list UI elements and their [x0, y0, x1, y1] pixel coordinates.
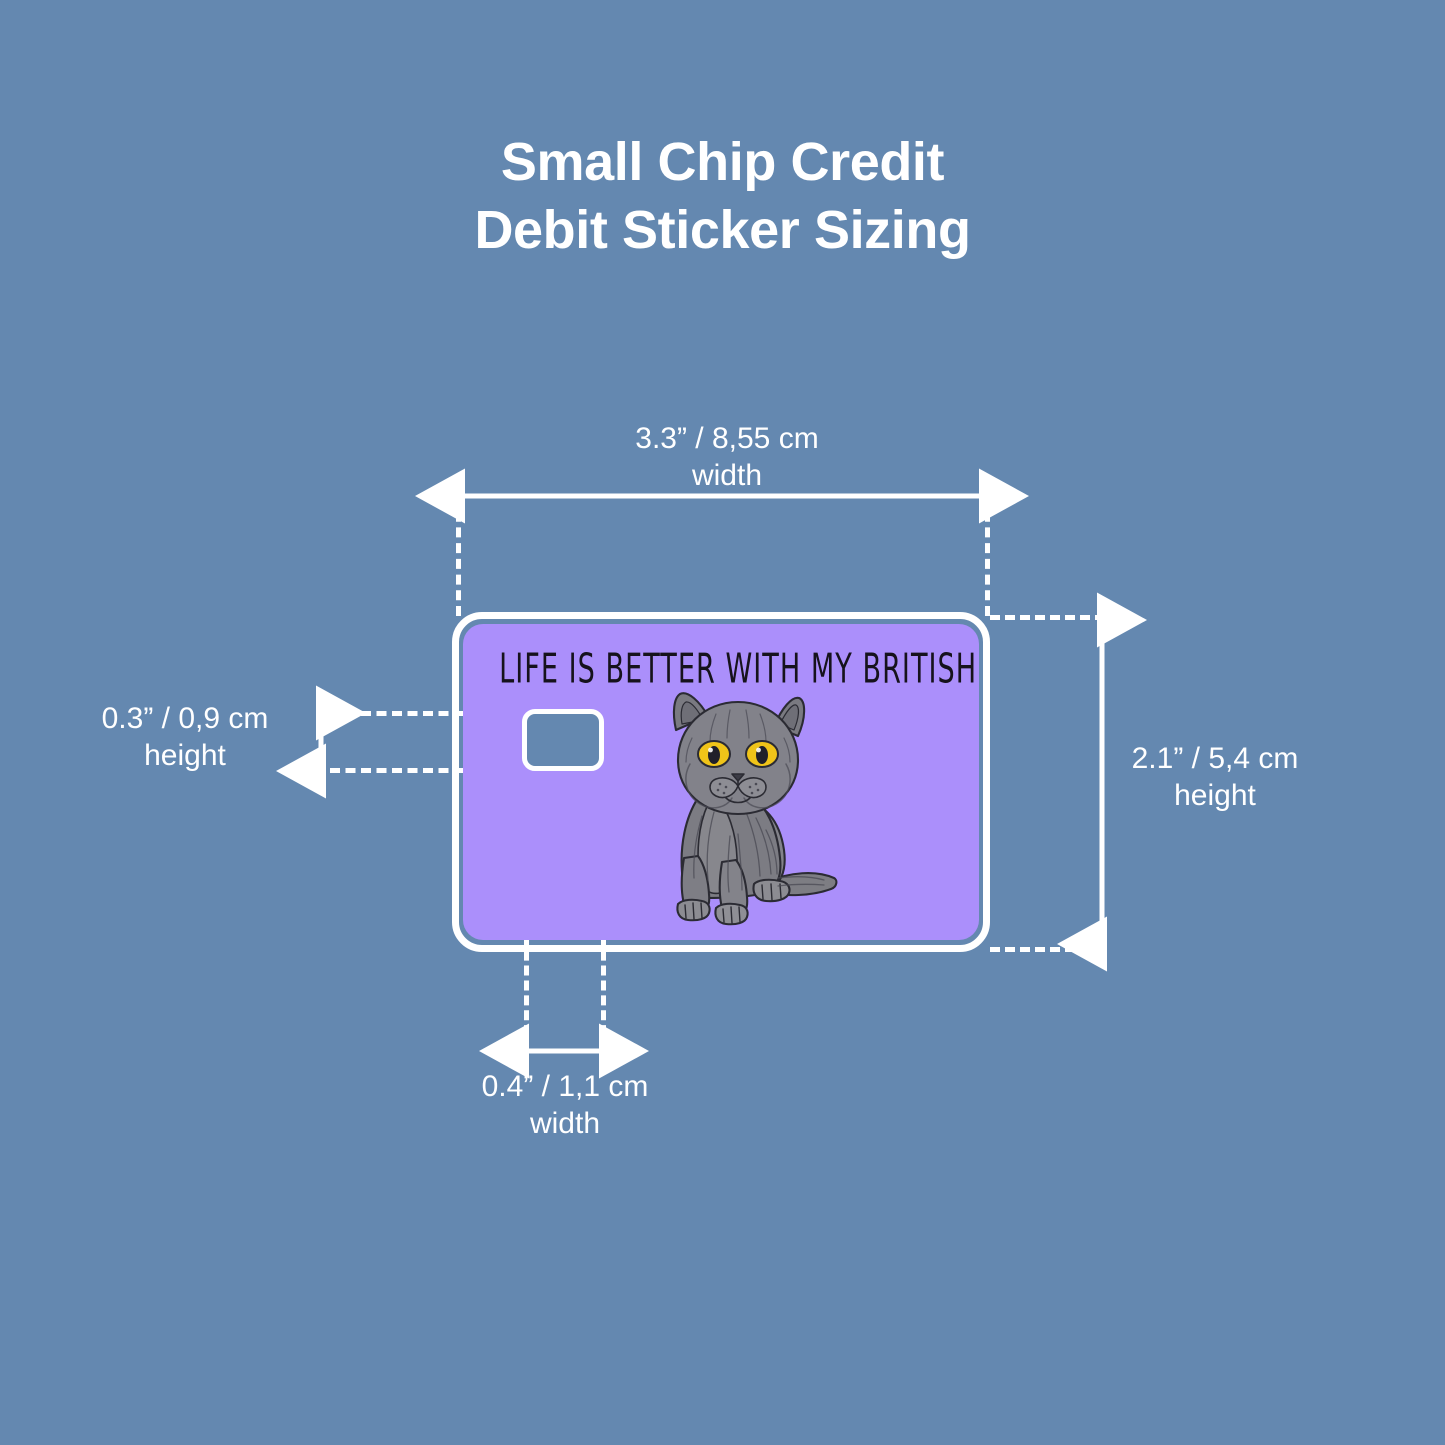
card-height-guide-top	[990, 615, 1105, 620]
chip-height-label: 0.3” / 0,9 cm height	[60, 700, 310, 774]
card-height-measure: 2.1” / 5,4 cm	[1132, 742, 1299, 775]
sticker-sizing-diagram: Small Chip Credit Debit Sticker Sizing 3…	[0, 0, 1445, 1445]
card-width-axis: width	[547, 457, 907, 494]
card-width-measure: 3.3” / 8,55 cm	[635, 422, 818, 455]
card-height-guide-bottom	[990, 947, 1105, 952]
chip-width-measure: 0.4” / 1,1 cm	[482, 1070, 649, 1103]
card-width-guide-right	[985, 496, 990, 616]
chip-height-axis: height	[60, 737, 310, 774]
page-title: Small Chip Credit Debit Sticker Sizing	[0, 128, 1445, 264]
card-width-label: 3.3” / 8,55 cm width	[547, 420, 907, 494]
card-width-guide-left	[456, 496, 461, 616]
card-sticker[interactable]: LIFE IS BETTER WITH MY BRITISH.	[463, 624, 979, 940]
card-height-label: 2.1” / 5,4 cm height	[1105, 740, 1325, 814]
chip-width-label: 0.4” / 1,1 cm width	[440, 1068, 690, 1142]
british-shorthair-cat-illustration	[638, 686, 848, 931]
chip-height-measure: 0.3” / 0,9 cm	[102, 702, 269, 735]
chip-width-axis: width	[440, 1105, 690, 1142]
chip-cutout	[522, 709, 604, 771]
card-height-axis: height	[1105, 777, 1325, 814]
